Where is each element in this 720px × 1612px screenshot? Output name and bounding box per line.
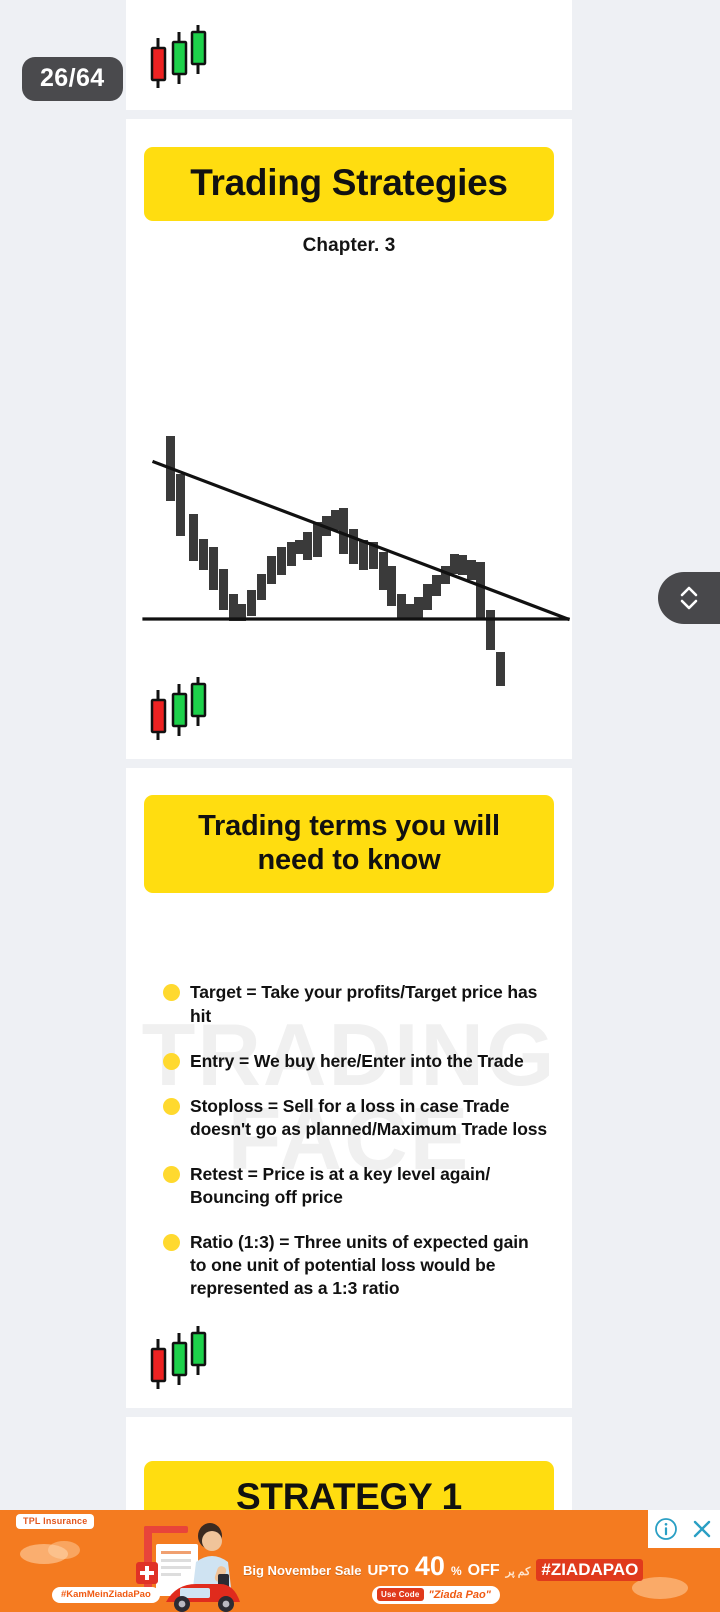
document-page-previous — [126, 0, 572, 110]
price-bar — [229, 594, 238, 621]
ad-brand-label: TPL Insurance — [16, 1514, 94, 1529]
price-bar — [467, 560, 476, 580]
trading-terms-list: Target = Take your profits/Target price … — [144, 981, 554, 1300]
reader-viewport: 26/64 Trading Strategies Chapter. 3 — [0, 0, 720, 1612]
term-definition: = Take your profits/Target price has hit — [190, 982, 537, 1025]
document-column: Trading Strategies Chapter. 3 Trading te… — [126, 0, 572, 1612]
ad-sale-text: Big November Sale — [243, 1563, 362, 1578]
price-bar — [189, 514, 198, 561]
advertisement-banner[interactable]: TPL Insurance Big November Sale UPTO 40 … — [0, 1510, 720, 1612]
price-bar — [219, 569, 228, 610]
price-bar — [486, 610, 495, 650]
price-bar — [349, 529, 358, 564]
price-bar — [257, 574, 266, 600]
ad-headline: Big November Sale UPTO 40 % OFF کم پر #Z… — [243, 1556, 643, 1581]
price-bar — [387, 566, 396, 606]
price-bar — [331, 510, 340, 530]
page-title-banner: Trading Strategies — [144, 147, 554, 221]
price-bar — [176, 474, 185, 536]
page-indicator-badge: 26/64 — [22, 57, 123, 101]
term-name: Stoploss — [190, 1096, 263, 1116]
term-item: Target = Take your profits/Target price … — [163, 981, 548, 1027]
price-bar — [432, 575, 441, 596]
ad-promo-code: Use Code "Ziada Pao" — [372, 1586, 500, 1604]
chevron-up-down-icon — [678, 583, 700, 613]
banner-line-1: Trading terms you will — [198, 810, 500, 842]
price-bar — [379, 552, 388, 590]
term-item: Stoploss = Sell for a loss in case Trade… — [163, 1095, 548, 1141]
ad-close-button[interactable] — [684, 1510, 720, 1548]
price-bar — [287, 542, 296, 566]
bullet-dot-icon — [163, 984, 180, 1001]
price-bar — [423, 584, 432, 610]
term-item: Entry = We buy here/Enter into the Trade — [163, 1050, 548, 1073]
term-name: Retest — [190, 1164, 243, 1184]
price-bar — [450, 554, 459, 574]
bullet-dot-icon — [163, 1166, 180, 1183]
price-bar — [313, 522, 322, 557]
price-bar — [277, 547, 286, 575]
term-name: Ratio (1:3) — [190, 1232, 274, 1252]
chapter-label: Chapter. 3 — [144, 235, 554, 257]
price-bar — [209, 547, 218, 590]
candlestick-logo-icon — [144, 22, 212, 94]
cloud-decoration-icon — [20, 1532, 110, 1566]
ad-upto-text: UPTO — [368, 1562, 409, 1579]
term-definition: = We buy here/Enter into the Trade — [234, 1051, 523, 1071]
ad-bottom-hashtag: #KamMeinZiadaPao — [52, 1587, 160, 1603]
chart-price-bars — [166, 436, 505, 686]
ad-hashtag: #ZIADAPAO — [536, 1559, 643, 1581]
term-name: Target — [190, 982, 242, 1002]
term-item: Ratio (1:3) = Three units of expected ga… — [163, 1231, 548, 1300]
price-bar — [295, 540, 304, 554]
ad-percent-sign: % — [451, 1564, 462, 1578]
banner-line-2: need to know — [258, 844, 441, 876]
info-circle-icon — [654, 1517, 678, 1541]
candlestick-logo-icon — [144, 1323, 212, 1395]
document-page-trading-terms: Trading terms you will need to know TRAD… — [126, 768, 572, 1408]
bullet-dot-icon — [163, 1234, 180, 1251]
descending-triangle-chart — [136, 414, 572, 714]
price-bar — [458, 555, 467, 575]
close-x-icon — [690, 1517, 714, 1541]
document-page-trading-strategies: Trading Strategies Chapter. 3 — [126, 119, 572, 759]
price-bar — [414, 597, 423, 619]
ad-urdu-text: کم پر — [506, 1565, 531, 1578]
chart-descending-trendline — [154, 462, 568, 619]
candlestick-logo-icon — [144, 674, 212, 746]
price-bar — [359, 540, 368, 570]
ad-controls — [648, 1510, 720, 1548]
ad-code-value: "Ziada Pao" — [429, 1589, 491, 1601]
ad-use-code-label: Use Code — [377, 1588, 424, 1601]
price-bar — [247, 590, 256, 616]
price-bar — [496, 652, 505, 686]
price-bar — [476, 562, 485, 618]
ad-off-text: OFF — [468, 1562, 500, 1580]
term-name: Entry — [190, 1051, 234, 1071]
price-bar — [397, 594, 406, 620]
price-bar — [303, 532, 312, 560]
page-title-banner: Trading terms you will need to know — [144, 795, 554, 893]
ad-info-button[interactable] — [648, 1510, 684, 1548]
fast-scroll-handle[interactable] — [658, 572, 720, 624]
ad-discount-value: 40 — [415, 1556, 445, 1578]
price-bar — [199, 539, 208, 570]
bullet-dot-icon — [163, 1053, 180, 1070]
price-bar — [267, 556, 276, 584]
term-item: Retest = Price is at a key level again/ … — [163, 1163, 548, 1209]
bullet-dot-icon — [163, 1098, 180, 1115]
